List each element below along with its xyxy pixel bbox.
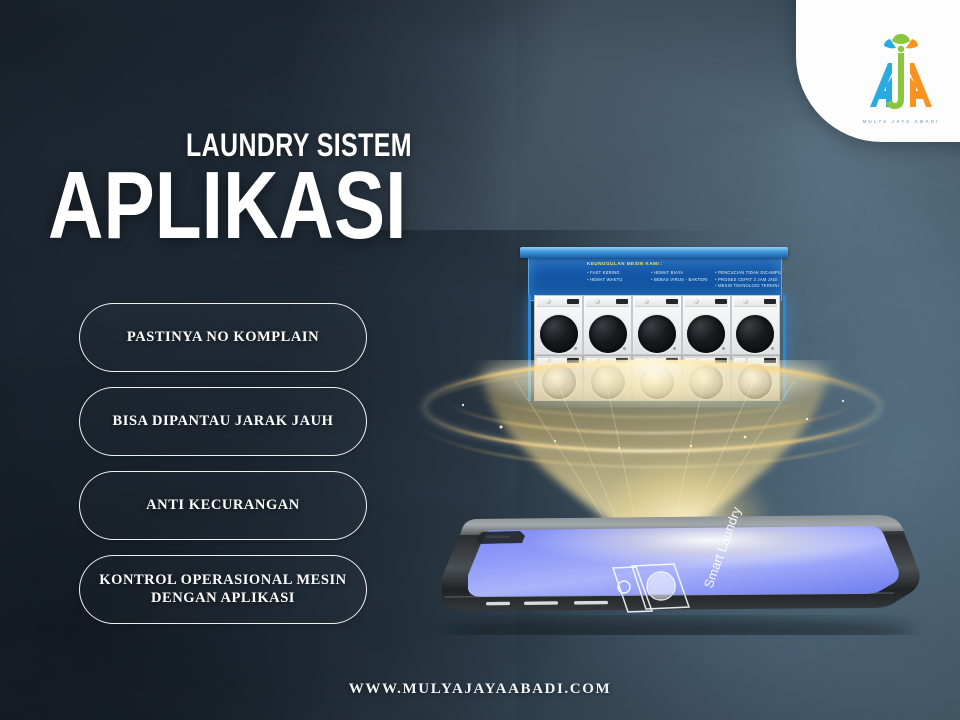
washer-dryer-unit bbox=[583, 295, 632, 401]
brand-logo-badge: MULYA JAYA ABADI bbox=[796, 0, 960, 142]
washing-machine-bank: KEUNGGULAN MESIN KAMI : FAST KERING HEMA… bbox=[520, 243, 788, 403]
dryer-door-icon bbox=[591, 365, 625, 399]
machine-banner-column: HEMAT BIAYA BEBAS VIRUS - BAKTERI bbox=[651, 270, 708, 282]
footer-website: WWW.MULYAJAYAABADI.COM bbox=[0, 681, 960, 698]
washer-door-icon bbox=[736, 315, 774, 353]
banner-bullet: HEMAT BIAYA bbox=[651, 270, 708, 275]
washer-dryer-unit bbox=[534, 295, 583, 401]
feature-pill[interactable]: KONTROL OPERASIONAL MESIN DENGAN APLIKAS… bbox=[79, 555, 367, 624]
feature-pill[interactable]: BISA DIPANTAU JARAK JAUH bbox=[79, 387, 367, 456]
machine-banner-column: PENCUCIAN TIDAK DICAMPUR PROSES CEPAT 2 … bbox=[715, 270, 782, 288]
feature-pill[interactable]: PASTINYA NO KOMPLAIN bbox=[79, 303, 367, 372]
poster-canvas: MULYA JAYA ABADI LAUNDRY SISTEM APLIKASI… bbox=[0, 0, 960, 720]
banner-bullet: HEMAT WAKTU bbox=[587, 277, 623, 282]
washer-door-icon bbox=[540, 315, 578, 353]
washer-dryer-unit bbox=[682, 295, 731, 401]
feature-pill-list: PASTINYA NO KOMPLAIN BISA DIPANTAU JARAK… bbox=[79, 303, 367, 639]
banner-bullet: FAST KERING bbox=[587, 270, 623, 275]
washer-door-icon bbox=[589, 315, 627, 353]
smartphone-device: Smart Laundry bbox=[424, 505, 929, 635]
washer-door-icon bbox=[638, 315, 676, 353]
dryer-door-icon bbox=[542, 365, 576, 399]
banner-bullet: PENCUCIAN TIDAK DICAMPUR bbox=[715, 270, 782, 275]
machine-frame bbox=[528, 295, 786, 401]
machine-banner-title: KEUNGGULAN MESIN KAMI : bbox=[587, 261, 663, 266]
machine-top-cap bbox=[520, 247, 788, 258]
machine-banner-column: FAST KERING HEMAT WAKTU bbox=[587, 270, 623, 282]
page-title: APLIKASI bbox=[48, 160, 406, 252]
mja-monogram-icon bbox=[862, 29, 940, 117]
dryer-door-icon bbox=[640, 365, 674, 399]
washer-dryer-unit bbox=[632, 295, 681, 401]
brand-tagline: MULYA JAYA ABADI bbox=[862, 119, 939, 124]
dryer-door-icon bbox=[689, 365, 723, 399]
dryer-door-icon bbox=[738, 365, 772, 399]
banner-bullet: MESIN TEKNOLOGI TERKINI bbox=[715, 283, 782, 288]
washer-door-icon bbox=[687, 315, 725, 353]
feature-pill[interactable]: ANTI KECURANGAN bbox=[79, 471, 367, 540]
banner-bullet: BEBAS VIRUS - BAKTERI bbox=[651, 277, 708, 282]
washer-dryer-unit bbox=[731, 295, 780, 401]
banner-bullet: PROSES CEPAT 2 JAM JADI bbox=[715, 277, 782, 282]
